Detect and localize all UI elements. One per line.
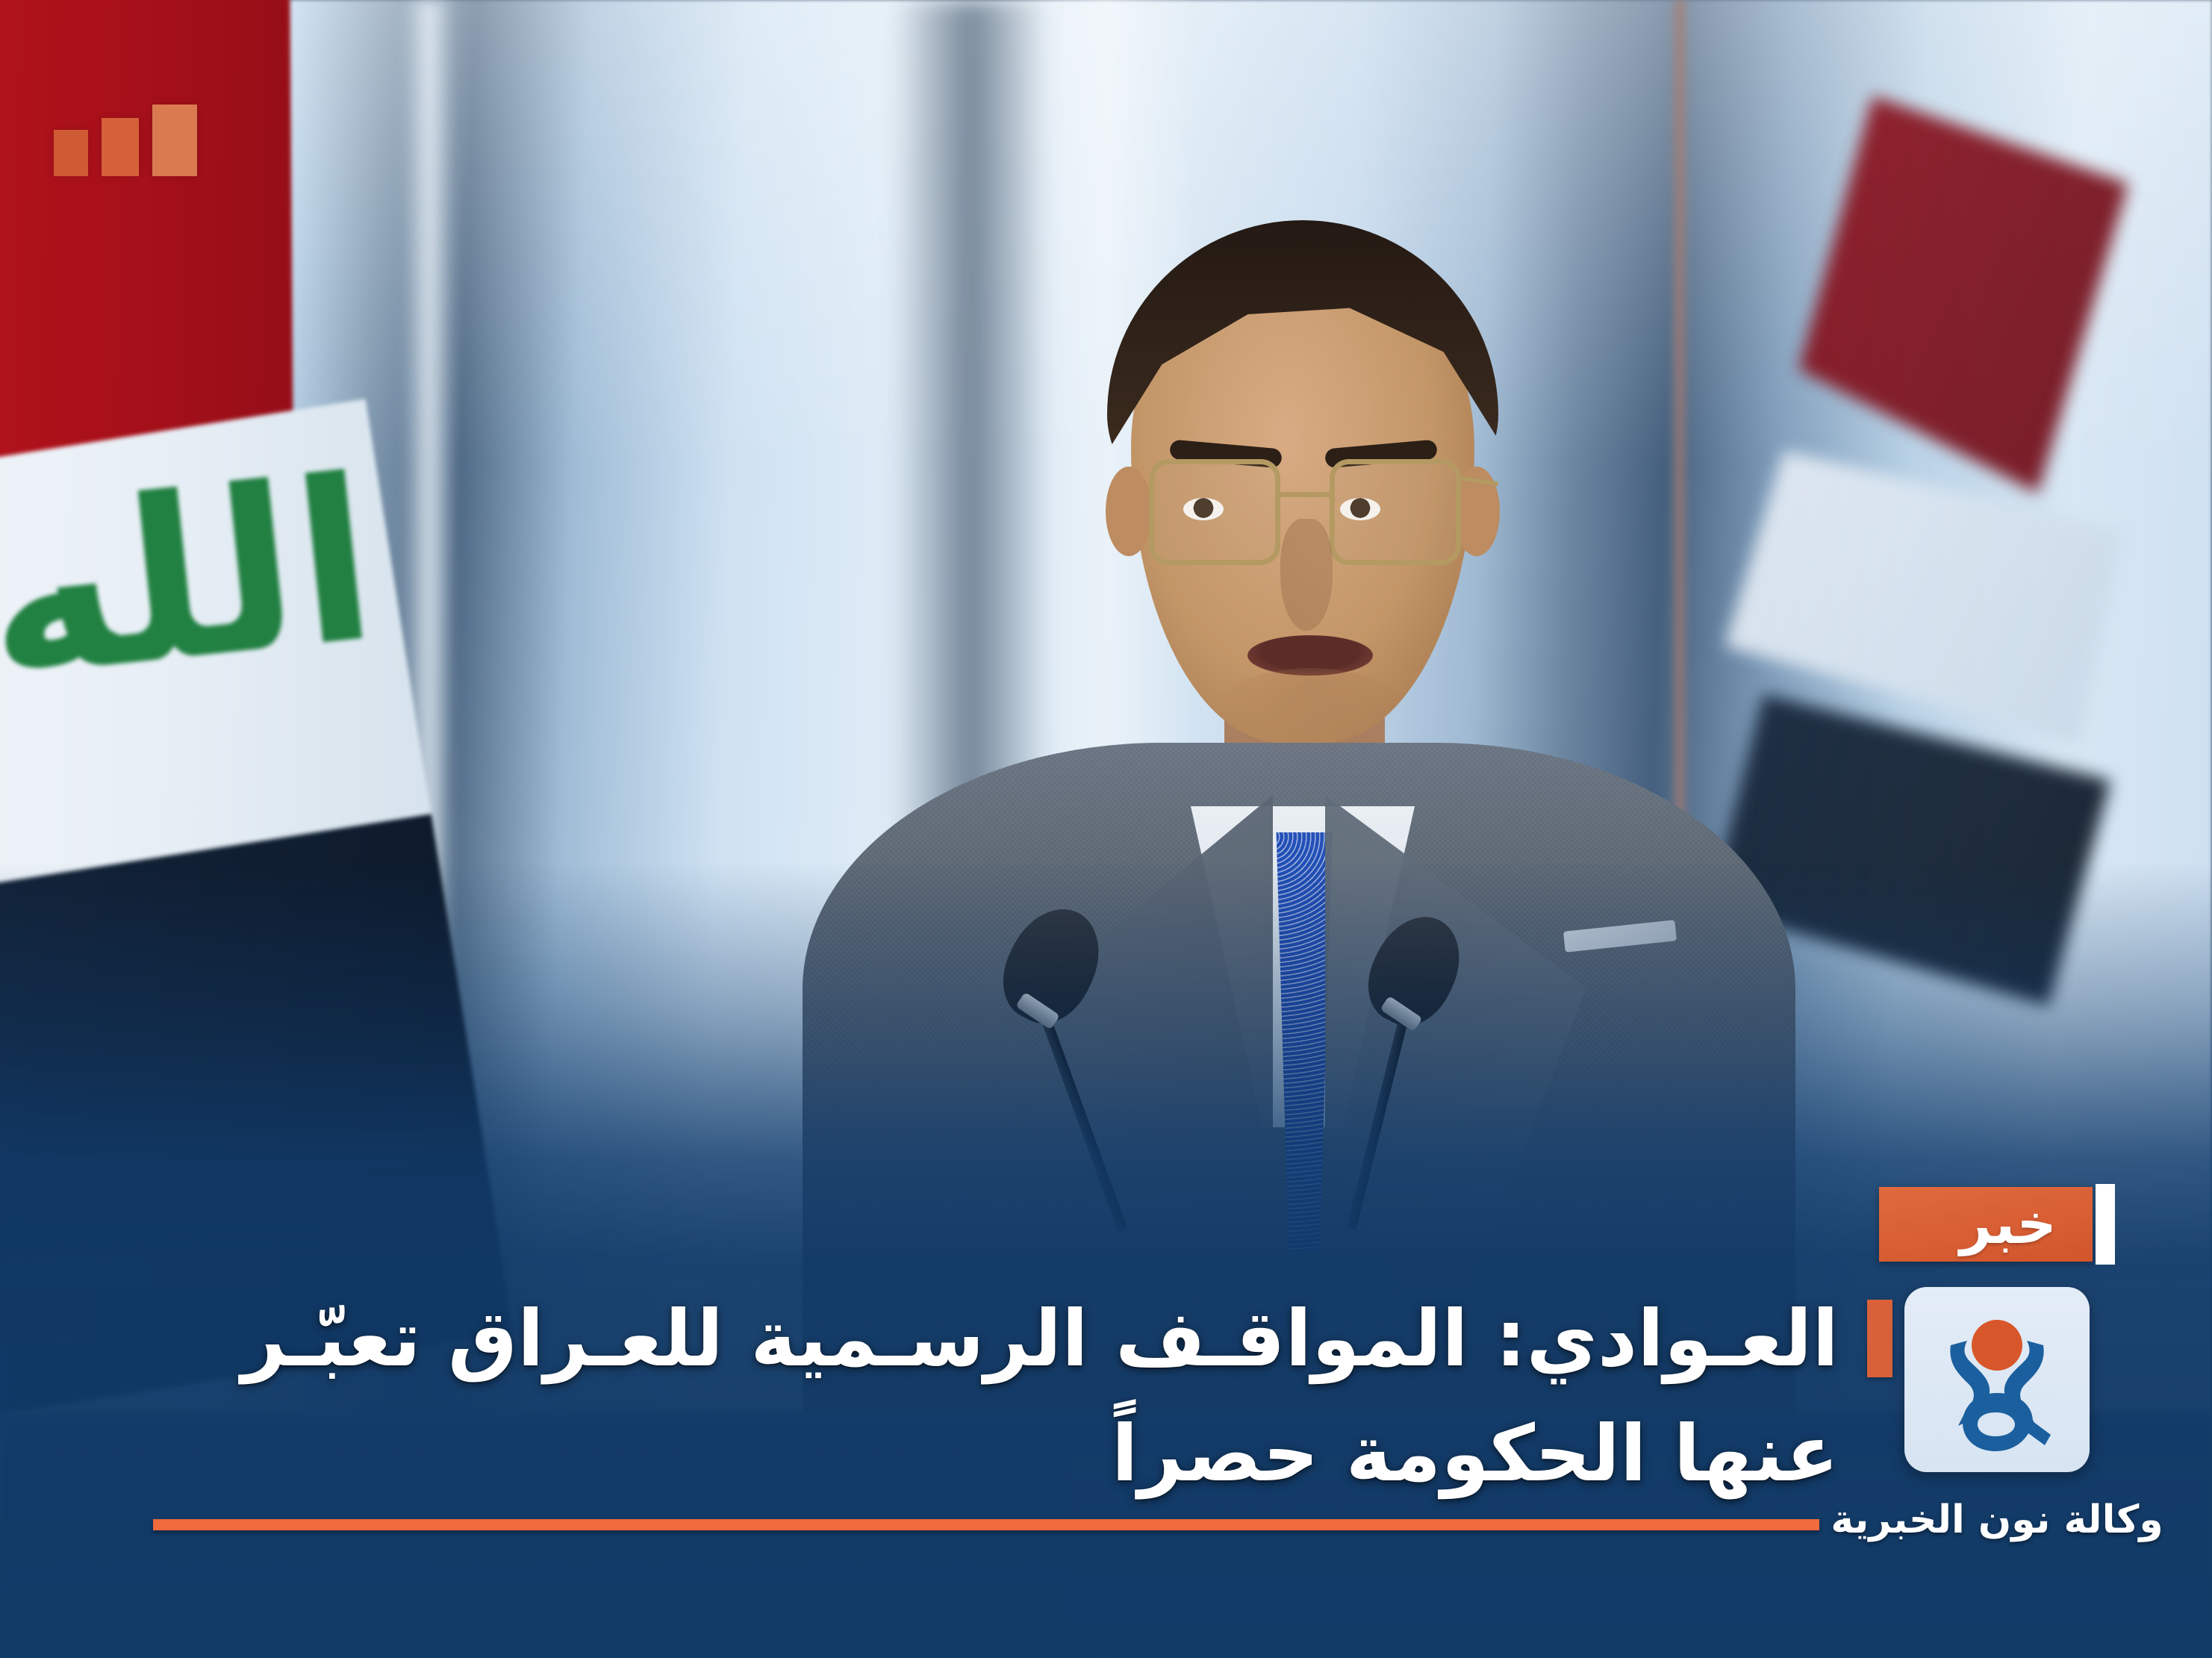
- orange-divider-rule: [153, 1519, 1819, 1530]
- headline-line-1: العـوادي: المواقـف الرسـمية للعـراق تعبّ…: [112, 1282, 1839, 1397]
- headline-line-2: عنها الحكومة حصراً: [112, 1397, 1839, 1512]
- headline: العـوادي: المواقـف الرسـمية للعـراق تعبّ…: [112, 1282, 1839, 1512]
- bar-3: [54, 130, 88, 176]
- three-bars-logo-icon: [54, 105, 197, 176]
- bar-1: [152, 105, 197, 176]
- status-badge: خبر: [1879, 1187, 2115, 1262]
- bar-2: [102, 118, 139, 176]
- brand-name: وكالة نون الخبرية: [1831, 1498, 2163, 1542]
- brand-block: خبر وكالة نون الخبرية: [1863, 1187, 2131, 1542]
- noon-agency-logo-icon: [1904, 1287, 2090, 1472]
- news-card: الله أكبر: [0, 0, 2212, 1658]
- badge-label: خبر: [1901, 1187, 2115, 1262]
